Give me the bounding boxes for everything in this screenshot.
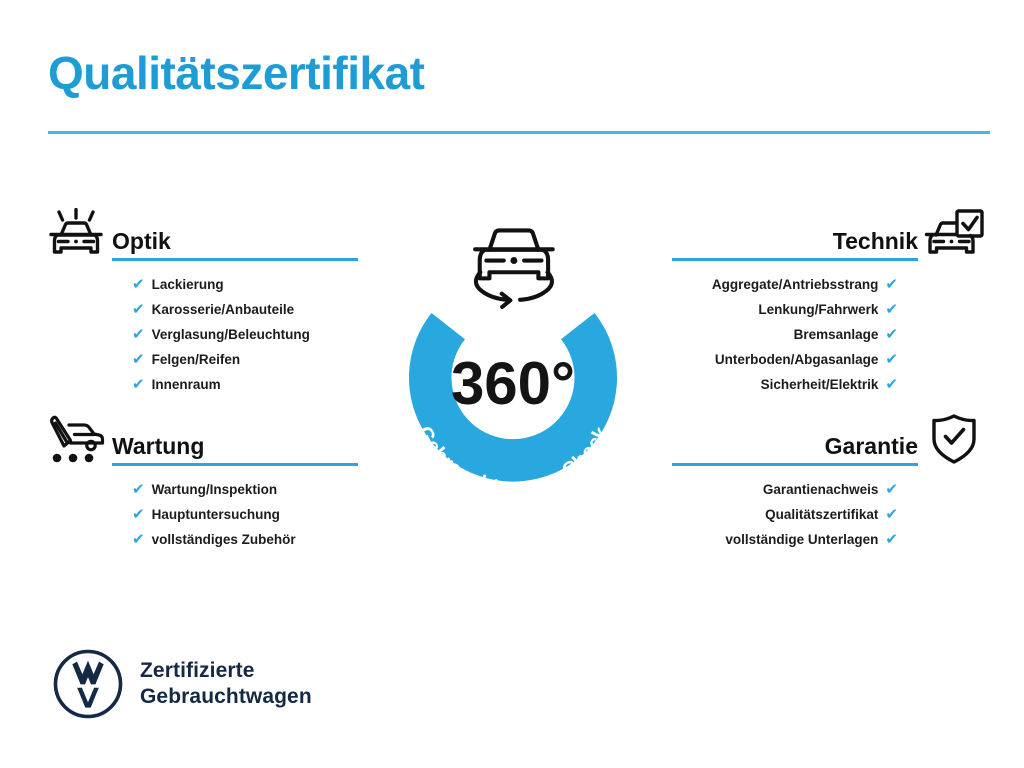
vw-logo-line1: Zertifizierte — [140, 658, 312, 684]
check-icon: ✔ — [132, 377, 145, 392]
section-title-technik: Technik — [645, 229, 918, 253]
list-item: ✔ Garantienachweis — [645, 482, 898, 497]
section-list-wartung: ✔ Wartung/Inspektion ✔ Hauptuntersuchung… — [132, 482, 385, 547]
section-title-garantie: Garantie — [645, 434, 918, 458]
check-icon: ✔ — [885, 377, 898, 392]
list-item: ✔ Sicherheit/Elektrik — [645, 377, 898, 392]
section-title-wartung: Wartung — [112, 434, 385, 458]
vw-certified-logo: Zertifizierte Gebrauchtwagen — [52, 648, 312, 720]
list-item: ✔ Lenkung/Fahrwerk — [645, 302, 898, 317]
car-service-pen-icon — [40, 410, 112, 468]
car-rotation-icon — [475, 230, 553, 307]
list-item: ✔ Hauptuntersuchung — [132, 507, 385, 522]
vw-logo-line2: Gebrauchtwagen — [140, 684, 312, 710]
check-icon: ✔ — [885, 277, 898, 292]
list-item-label: Lackierung — [152, 278, 224, 292]
shield-check-icon — [918, 410, 990, 468]
check-icon: ✔ — [132, 327, 145, 342]
check-icon: ✔ — [885, 507, 898, 522]
list-item: ✔ vollständige Unterlagen — [645, 532, 898, 547]
car-shine-icon — [40, 205, 112, 263]
list-item-label: Sicherheit/Elektrik — [761, 378, 879, 392]
section-title-wrap-technik: Technik — [645, 229, 918, 263]
check-icon: ✔ — [132, 532, 145, 547]
list-item: ✔ Bremsanlage — [645, 327, 898, 342]
list-item: ✔ Unterboden/Abgasanlage — [645, 352, 898, 367]
vw-logo-text: Zertifizierte Gebrauchtwagen — [140, 658, 312, 709]
section-header-garantie: Garantie — [645, 410, 990, 468]
section-divider-technik — [672, 258, 918, 261]
check-icon: ✔ — [885, 327, 898, 342]
section-header-wartung: Wartung — [40, 410, 385, 468]
list-item: ✔ Innenraum — [132, 377, 385, 392]
badge-value: 360° — [451, 350, 575, 417]
list-item-label: Innenraum — [152, 378, 221, 392]
section-header-technik: Technik — [645, 205, 990, 263]
list-item: ✔ Lackierung — [132, 277, 385, 292]
list-item-label: Hauptuntersuchung — [152, 508, 280, 522]
section-wartung: Wartung ✔ Wartung/Inspektion ✔ Hauptunte… — [40, 410, 385, 557]
list-item-label: vollständiges Zubehör — [152, 533, 296, 547]
vw-logo-icon — [52, 648, 124, 720]
check-icon: ✔ — [132, 302, 145, 317]
check-icon: ✔ — [885, 302, 898, 317]
section-list-optik: ✔ Lackierung ✔ Karosserie/Anbauteile ✔ V… — [132, 277, 385, 392]
section-optik: Optik ✔ Lackierung ✔ Karosserie/Anbautei… — [40, 205, 385, 402]
check-icon: ✔ — [885, 352, 898, 367]
section-list-garantie: ✔ Garantienachweis ✔ Qualitätszertifikat… — [645, 482, 898, 547]
list-item: ✔ Aggregate/Antriebsstrang — [645, 277, 898, 292]
list-item-label: Karosserie/Anbauteile — [152, 303, 295, 317]
list-item: ✔ Verglasung/Beleuchtung — [132, 327, 385, 342]
section-divider-wartung — [112, 463, 358, 466]
section-header-optik: Optik — [40, 205, 385, 263]
section-divider-garantie — [672, 463, 918, 466]
list-item: ✔ Qualitätszertifikat — [645, 507, 898, 522]
list-item-label: Wartung/Inspektion — [152, 483, 278, 497]
list-item: ✔ vollständiges Zubehör — [132, 532, 385, 547]
section-title-wrap-garantie: Garantie — [645, 434, 918, 468]
page-title: Qualitätszertifikat — [48, 50, 425, 96]
check-icon: ✔ — [132, 482, 145, 497]
check-icon: ✔ — [132, 507, 145, 522]
check-icon: ✔ — [885, 532, 898, 547]
section-divider-optik — [112, 258, 358, 261]
certificate-page: Qualitätszertifikat — [0, 0, 1024, 768]
check-icon: ✔ — [132, 352, 145, 367]
title-divider — [48, 131, 990, 134]
list-item-label: Verglasung/Beleuchtung — [152, 328, 310, 342]
section-title-wrap-wartung: Wartung — [112, 434, 385, 468]
list-item: ✔ Felgen/Reifen — [132, 352, 385, 367]
list-item-label: vollständige Unterlagen — [725, 533, 878, 547]
list-item-label: Qualitätszertifikat — [765, 508, 878, 522]
check-icon: ✔ — [885, 482, 898, 497]
list-item-label: Unterboden/Abgasanlage — [715, 353, 879, 367]
section-title-wrap-optik: Optik — [112, 229, 385, 263]
section-technik: Technik ✔ Aggregate/Antriebsstrang ✔ Len… — [645, 205, 990, 402]
car-checkbox-icon — [918, 205, 990, 263]
list-item: ✔ Wartung/Inspektion — [132, 482, 385, 497]
list-item: ✔ Karosserie/Anbauteile — [132, 302, 385, 317]
list-item-label: Bremsanlage — [794, 328, 879, 342]
section-garantie: Garantie ✔ Garantienachweis ✔ Qualitätsz… — [645, 410, 990, 557]
check-icon: ✔ — [132, 277, 145, 292]
list-item-label: Lenkung/Fahrwerk — [758, 303, 878, 317]
list-item-label: Felgen/Reifen — [152, 353, 241, 367]
list-item-label: Aggregate/Antriebsstrang — [712, 278, 879, 292]
badge-360-gebrauchtwagen-check: 360° Gebrauchtwagen-Check — [381, 196, 645, 492]
section-title-optik: Optik — [112, 229, 385, 253]
section-list-technik: ✔ Aggregate/Antriebsstrang ✔ Lenkung/Fah… — [645, 277, 898, 392]
list-item-label: Garantienachweis — [763, 483, 879, 497]
